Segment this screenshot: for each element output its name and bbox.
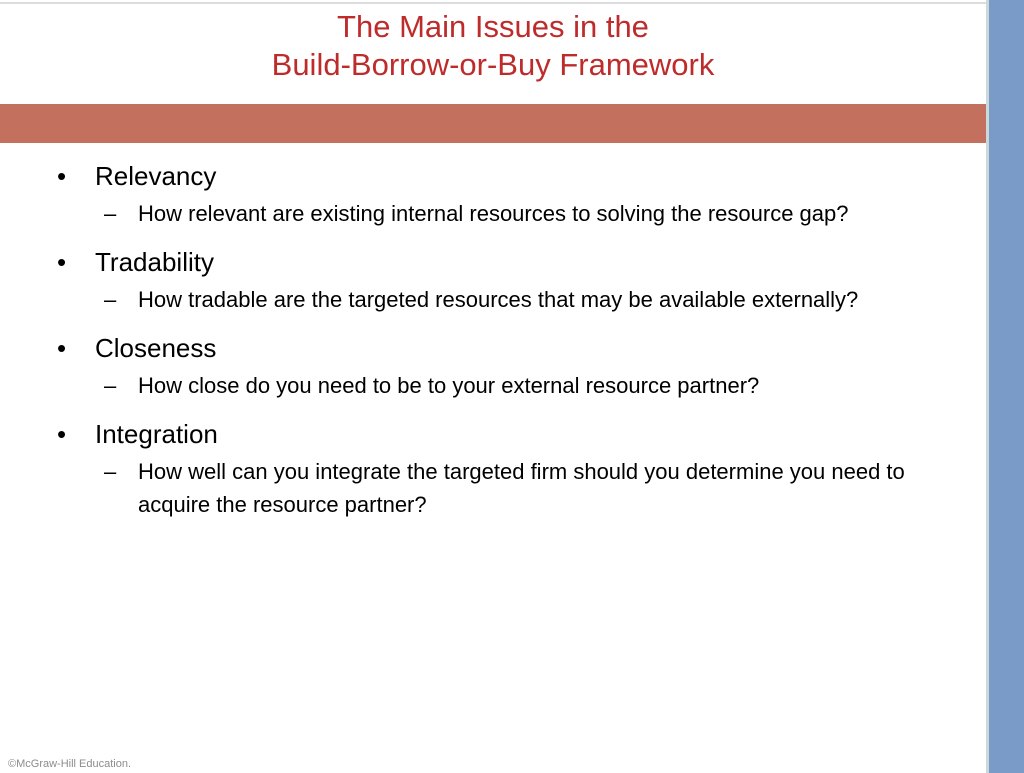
subbullet-tradability-text: How tradable are the targeted resources … (138, 283, 926, 316)
top-divider-line (0, 2, 1024, 4)
bullet-dot-icon: • (57, 244, 66, 281)
subbullet-closeness-text: How close do you need to be to your exte… (138, 369, 926, 402)
right-accent-bar (986, 0, 1024, 773)
subbullet-dash-icon: – (104, 283, 116, 316)
copyright-credit: ©McGraw-Hill Education. (8, 757, 131, 771)
group-spacer (0, 316, 986, 330)
bullet-integration: • Integration (0, 416, 986, 453)
slide-body: • Relevancy – How relevant are existing … (0, 158, 986, 521)
slide-title: The Main Issues in the Build-Borrow-or-B… (0, 8, 986, 84)
subbullet-dash-icon: – (104, 197, 116, 230)
bullet-dot-icon: • (57, 330, 66, 367)
bullet-group-integration: • Integration – How well can you integra… (0, 416, 986, 521)
group-spacer (0, 402, 986, 416)
bullet-group-tradability: • Tradability – How tradable are the tar… (0, 244, 986, 316)
subbullet-closeness: – How close do you need to be to your ex… (0, 369, 986, 402)
subbullet-relevancy-text: How relevant are existing internal resou… (138, 197, 926, 230)
subbullet-dash-icon: – (104, 455, 116, 488)
bullet-group-relevancy: • Relevancy – How relevant are existing … (0, 158, 986, 230)
subbullet-integration-text: How well can you integrate the targeted … (138, 455, 926, 521)
bullet-integration-label: Integration (95, 416, 986, 453)
subbullet-dash-icon: – (104, 369, 116, 402)
subbullet-integration: – How well can you integrate the targete… (0, 455, 986, 521)
title-line-1: The Main Issues in the (0, 8, 986, 46)
bullet-tradability-label: Tradability (95, 244, 986, 281)
bullet-dot-icon: • (57, 416, 66, 453)
group-spacer (0, 230, 986, 244)
subbullet-tradability: – How tradable are the targeted resource… (0, 283, 986, 316)
bullet-relevancy-label: Relevancy (95, 158, 986, 195)
slide-canvas: The Main Issues in the Build-Borrow-or-B… (0, 0, 1024, 773)
title-line-2: Build-Borrow-or-Buy Framework (0, 46, 986, 84)
title-accent-band (0, 104, 986, 143)
bullet-relevancy: • Relevancy (0, 158, 986, 195)
bullet-closeness-label: Closeness (95, 330, 986, 367)
bullet-dot-icon: • (57, 158, 66, 195)
bullet-closeness: • Closeness (0, 330, 986, 367)
subbullet-relevancy: – How relevant are existing internal res… (0, 197, 986, 230)
bullet-tradability: • Tradability (0, 244, 986, 281)
bullet-group-closeness: • Closeness – How close do you need to b… (0, 330, 986, 402)
